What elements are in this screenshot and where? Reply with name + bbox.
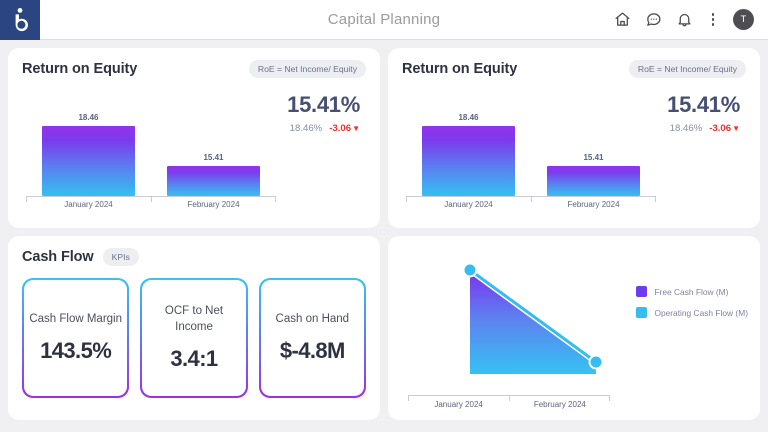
kpi-value: 143.5% — [40, 338, 111, 364]
card-title: Cash Flow — [22, 249, 94, 265]
x-axis-labels: January 2024 February 2024 — [406, 198, 656, 212]
bar-column[interactable]: 18.46 — [26, 110, 151, 196]
top-bar: Capital Planning — [0, 0, 768, 40]
kpi-card-inner: Cash on Hand $-4.8M — [261, 280, 364, 396]
kpi-value: 3.4:1 — [170, 346, 217, 372]
delta-down-caret-icon: ▼ — [352, 124, 360, 133]
kpis-badge: KPIs — [103, 248, 139, 266]
kebab-dot — [712, 18, 715, 21]
roe-summary: 15.41% 18.46% -3.06▼ — [667, 94, 740, 134]
roe-comparison: 18.46% -3.06▼ — [667, 123, 740, 134]
card-title: Return on Equity — [402, 61, 517, 77]
formula-badge: RoE = Net Income/ Equity — [249, 60, 366, 78]
roe-previous-value: 18.46% — [670, 123, 703, 134]
data-point-marker — [590, 356, 603, 369]
card-header: Return on Equity RoE = Net Income/ Equit… — [402, 60, 746, 78]
card-cash-flow: Cash Flow KPIs Cash Flow Margin 143.5% O… — [8, 236, 380, 420]
chat-icon[interactable] — [644, 11, 662, 29]
card-body: 15.41% 18.46% -3.06▼ 18.46 15.41 — [402, 78, 746, 218]
roe-current-value: 15.41% — [667, 94, 740, 116]
kpi-label: Cash Flow Margin — [29, 312, 122, 328]
bluebird-logo-icon — [9, 7, 31, 33]
home-icon[interactable] — [613, 11, 631, 29]
kebab-dot — [712, 13, 715, 16]
bar-column[interactable]: 18.46 — [406, 110, 531, 196]
kpi-card-inner: Cash Flow Margin 143.5% — [24, 280, 127, 396]
kpi-card-inner: OCF to Net Income 3.4:1 — [142, 280, 245, 396]
bar[interactable] — [42, 126, 135, 196]
bar-column[interactable]: 15.41 — [151, 110, 276, 196]
bar-series: 18.46 15.41 — [406, 110, 656, 196]
roe-summary: 15.41% 18.46% -3.06▼ — [287, 94, 360, 134]
bar-value-label: 15.41 — [583, 153, 603, 162]
bar-series: 18.46 15.41 — [26, 110, 276, 196]
formula-badge: RoE = Net Income/ Equity — [629, 60, 746, 78]
kpi-card-cash-on-hand[interactable]: Cash on Hand $-4.8M — [259, 278, 366, 398]
bar[interactable] — [422, 126, 515, 196]
bar-value-label: 15.41 — [203, 153, 223, 162]
roe-comparison: 18.46% -3.06▼ — [287, 123, 360, 134]
bar-column[interactable]: 15.41 — [531, 110, 656, 196]
x-axis-labels: January 2024 February 2024 — [26, 198, 276, 212]
bar[interactable] — [547, 166, 640, 196]
card-return-on-equity-left: Return on Equity RoE = Net Income/ Equit… — [8, 48, 380, 228]
x-axis-tick-label: February 2024 — [509, 398, 610, 412]
card-title: Return on Equity — [22, 61, 137, 77]
roe-delta: -3.06▼ — [329, 123, 360, 134]
kpi-row: Cash Flow Margin 143.5% OCF to Net Incom… — [22, 278, 366, 398]
x-axis-labels: January 2024 February 2024 — [408, 398, 610, 412]
card-cash-flow-chart: January 2024 February 2024 Free Cash Flo… — [388, 236, 760, 420]
kpi-card-ocf-to-net-income[interactable]: OCF to Net Income 3.4:1 — [140, 278, 247, 398]
legend-label: Free Cash Flow (M) — [654, 287, 728, 297]
roe-delta-value: -3.06 — [709, 123, 731, 134]
cash-flow-area-chart: January 2024 February 2024 — [408, 252, 610, 418]
bar-value-label: 18.46 — [458, 113, 478, 122]
kpi-label: OCF to Net Income — [146, 304, 241, 335]
roe-current-value: 15.41% — [287, 94, 360, 116]
kpi-label: Cash on Hand — [276, 312, 350, 328]
x-axis-tick-label: January 2024 — [408, 398, 509, 412]
kebab-dot — [712, 23, 715, 26]
x-axis-tick-label: January 2024 — [26, 198, 151, 212]
app-logo[interactable] — [0, 0, 40, 40]
x-axis-tick-label: February 2024 — [151, 198, 276, 212]
kpi-card-cash-flow-margin[interactable]: Cash Flow Margin 143.5% — [22, 278, 129, 398]
roe-bar-chart: 18.46 15.41 January 2024 February 2024 — [406, 106, 656, 212]
legend-label: Operating Cash Flow (M) — [654, 308, 748, 318]
roe-delta: -3.06▼ — [709, 123, 740, 134]
x-axis-tick-label: February 2024 — [531, 198, 656, 212]
kebab-menu-icon[interactable] — [706, 11, 720, 29]
card-body: 15.41% 18.46% -3.06▼ 18.46 15.41 — [22, 78, 366, 218]
x-axis-tick-label: January 2024 — [406, 198, 531, 212]
roe-bar-chart: 18.46 15.41 January 2024 February 2024 — [26, 106, 276, 212]
avatar[interactable]: T — [733, 9, 754, 30]
bar-value-label: 18.46 — [78, 113, 98, 122]
area-chart-svg[interactable] — [408, 252, 658, 380]
dashboard-grid: Return on Equity RoE = Net Income/ Equit… — [0, 40, 768, 432]
roe-delta-value: -3.06 — [329, 123, 351, 134]
top-bar-actions: T — [613, 9, 768, 30]
bar[interactable] — [167, 166, 260, 196]
card-header: Cash Flow KPIs — [22, 248, 366, 266]
data-point-marker — [464, 264, 477, 277]
card-header: Return on Equity RoE = Net Income/ Equit… — [22, 60, 366, 78]
bell-icon[interactable] — [675, 11, 693, 29]
card-return-on-equity-right: Return on Equity RoE = Net Income/ Equit… — [388, 48, 760, 228]
kpi-value: $-4.8M — [280, 338, 345, 364]
roe-previous-value: 18.46% — [290, 123, 323, 134]
delta-down-caret-icon: ▼ — [732, 124, 740, 133]
